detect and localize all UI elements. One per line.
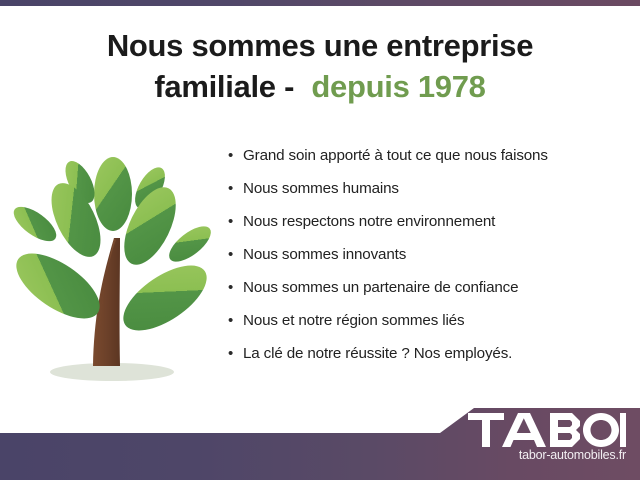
- tree-illustration: [8, 152, 218, 390]
- list-item: • Nous sommes un partenaire de confiance: [228, 278, 628, 311]
- list-item-label: Nous sommes innovants: [243, 245, 406, 265]
- benefits-list: • Grand soin apporté à tout ce que nous …: [228, 146, 628, 377]
- brand-logo[interactable]: tabor-automobiles.fr: [426, 413, 626, 462]
- bullet-icon: •: [228, 212, 243, 232]
- list-item-label: La clé de notre réussite ? Nos employés.: [243, 344, 512, 364]
- brand-wordmark: [426, 413, 626, 447]
- bullet-icon: •: [228, 311, 243, 331]
- list-item: • La clé de notre réussite ? Nos employé…: [228, 344, 628, 377]
- list-item-label: Nous respectons notre environnement: [243, 212, 495, 232]
- footer-bar: tabor-automobiles.fr: [0, 400, 640, 480]
- list-item-label: Nous sommes humains: [243, 179, 399, 199]
- brand-wordmark-svg: [468, 413, 626, 447]
- tree-illustration-svg: [8, 152, 218, 390]
- list-item-label: Grand soin apporté à tout ce que nous fa…: [243, 146, 548, 166]
- top-accent-strip: [0, 0, 640, 6]
- page-title: Nous sommes une entreprise familiale - d…: [0, 26, 640, 108]
- slide-canvas: Nous sommes une entreprise familiale - d…: [0, 0, 640, 480]
- tree-leaf: [164, 220, 217, 268]
- list-item: • Nous sommes humains: [228, 179, 628, 212]
- list-item-label: Nous sommes un partenaire de confiance: [243, 278, 518, 298]
- page-title-line-2-primary: familiale -: [154, 69, 302, 104]
- list-item-label: Nous et notre région sommes liés: [243, 311, 464, 331]
- bullet-icon: •: [228, 245, 243, 265]
- list-item: • Nous respectons notre environnement: [228, 212, 628, 245]
- brand-url: tabor-automobiles.fr: [426, 448, 626, 462]
- tree-leaf: [94, 157, 132, 231]
- page-title-line-2: familiale - depuis 1978: [0, 67, 640, 108]
- list-item: • Nous sommes innovants: [228, 245, 628, 278]
- bullet-icon: •: [228, 344, 243, 364]
- tree-leaf: [113, 253, 217, 343]
- list-item: • Grand soin apporté à tout ce que nous …: [228, 146, 628, 179]
- page-title-line-1: Nous sommes une entreprise: [0, 26, 640, 67]
- page-title-highlight: depuis 1978: [311, 69, 485, 104]
- list-item: • Nous et notre région sommes liés: [228, 311, 628, 344]
- bullet-icon: •: [228, 278, 243, 298]
- bullet-icon: •: [228, 179, 243, 199]
- bullet-icon: •: [228, 146, 243, 166]
